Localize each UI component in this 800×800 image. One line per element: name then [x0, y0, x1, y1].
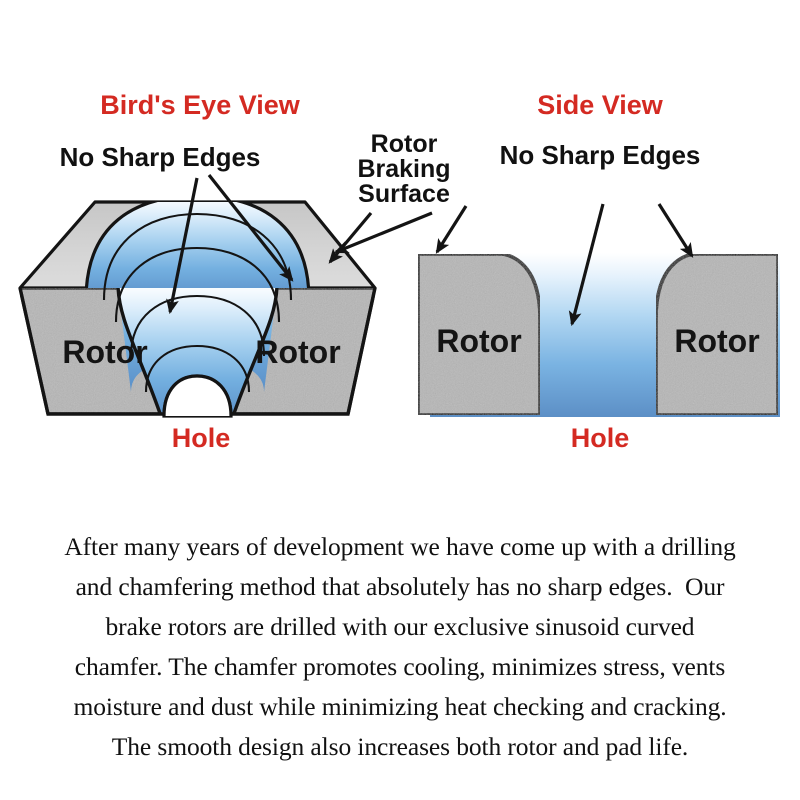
bird-eye-view-group: Bird's Eye View No Sharp Edges Rotor Bra…	[20, 90, 451, 453]
left-no-sharp-edges-label: No Sharp Edges	[60, 142, 261, 172]
paragraph-line: The smooth design also increases both ro…	[0, 727, 800, 767]
side-view-rotor-label-left: Rotor	[436, 323, 521, 359]
left-block-rotor-label-right: Rotor	[255, 334, 340, 370]
side-view-group: Side View No Sharp Edges Rotor Rotor Hol…	[418, 90, 780, 453]
description-paragraph: After many years of development we have …	[0, 527, 800, 767]
left-block-rotor-label-left: Rotor	[62, 334, 147, 370]
left-hole-label: Hole	[172, 423, 231, 453]
paragraph-line: and chamfering method that absolutely ha…	[0, 567, 800, 607]
side-view-title: Side View	[537, 90, 664, 120]
rotor-braking-surface-label-line1: Rotor	[371, 130, 438, 158]
arrow-right-view-right-chamfer	[659, 204, 692, 256]
bird-eye-view-title: Bird's Eye View	[100, 90, 301, 120]
arrow-right-view-left-chamfer	[437, 206, 466, 252]
right-no-sharp-edges-label: No Sharp Edges	[500, 140, 701, 170]
arrow-braking-surface-right	[336, 213, 432, 252]
side-view-hole-label: Hole	[571, 423, 630, 453]
rotor-braking-surface-label-line3: Surface	[358, 180, 450, 208]
rotor-braking-surface-label-line2: Braking	[357, 155, 450, 183]
paragraph-line: moisture and dust while minimizing heat …	[0, 687, 800, 727]
paragraph-line: After many years of development we have …	[0, 527, 800, 567]
side-view-rotor-label-right: Rotor	[674, 323, 759, 359]
arrow-braking-surface-left	[330, 213, 371, 262]
paragraph-line: brake rotors are drilled with our exclus…	[0, 607, 800, 647]
paragraph-line: chamfer. The chamfer promotes cooling, m…	[0, 647, 800, 687]
